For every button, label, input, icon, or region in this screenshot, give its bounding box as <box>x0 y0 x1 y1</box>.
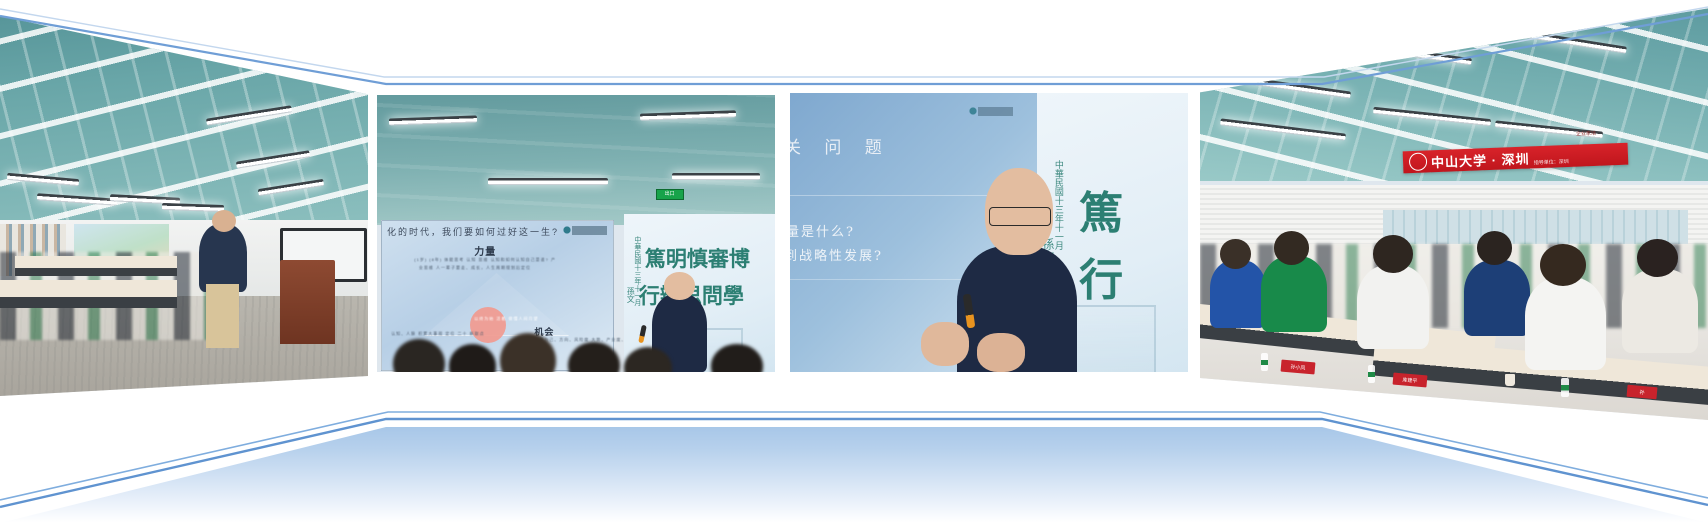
exit-sign-label: 出口 <box>657 190 683 199</box>
attendee-head <box>1373 235 1414 273</box>
glasses-icon <box>989 207 1051 226</box>
slide-question-1: 量是什么? <box>790 221 855 240</box>
slide-subtext-2: 业思维 人一辈子要走、成长，人生周期规划后定位 <box>419 265 531 271</box>
carousel-slide-lecture-slide-room[interactable]: 出口 化的时代，我们要如何过好这一生? 力量 (1岁) (8年) 体能思考 认知… <box>377 95 775 372</box>
slide-image-classroom-wide-left <box>0 0 368 400</box>
slide-heading: 关 问 题 <box>790 133 891 158</box>
calligraphy-signature: 孫文 <box>625 287 636 303</box>
slide-image-speaker-portrait: 关 问 题 量是什么? 到战略性发展? 篤 行 中華民國十三年十一月 孫文 <box>790 93 1188 372</box>
attendee-torso <box>1357 265 1428 349</box>
desk-row <box>15 256 177 276</box>
campus-gate-graphic <box>1064 305 1156 372</box>
attendee-torso <box>1464 260 1530 336</box>
university-seal-icon <box>1409 152 1428 171</box>
speaker-hand <box>977 333 1025 372</box>
speaker-hand <box>921 322 969 367</box>
name-card: 库建平 <box>1393 372 1428 387</box>
diagram-center-circle <box>470 307 506 343</box>
diagram-circle-label: 以终为始 活着 做懂人间月望 <box>474 316 538 322</box>
banner-top-note: 企业家培 <box>1576 130 1596 138</box>
podium <box>280 260 335 344</box>
brand-logo-icon <box>563 226 607 235</box>
slide-node-top: 力量 <box>474 243 496 258</box>
attendee-torso <box>1525 277 1606 369</box>
diagram-note-left: 认知、人脉 积累大事观 定位 二十 新取点 <box>391 331 484 337</box>
calligraphy-side-text: 中華民國十三年十一月 <box>1052 160 1065 250</box>
attendee-torso <box>1210 260 1266 327</box>
perspective-carousel-stage: 出口 化的时代，我们要如何过好这一生? 力量 (1岁) (8年) 体能思考 认知… <box>0 0 1708 523</box>
calligraphy-line-2: 行 <box>1079 244 1123 308</box>
ceiling-light <box>488 178 608 185</box>
carousel-slide-speaker-portrait[interactable]: 关 问 题 量是什么? 到战略性发展? 篤 行 中華民國十三年十一月 孫文 <box>790 93 1188 372</box>
coffee-cup <box>1505 374 1515 386</box>
slide-subtext-1: (1岁) (8年) 体能思考 认知 思维 认知和如何认知自己是谁? 产 <box>414 257 556 263</box>
banner-title: 中山大学 · 深圳 <box>1431 148 1530 171</box>
desk-row <box>0 280 177 308</box>
instructor-head <box>212 210 236 232</box>
attendee-head <box>1274 231 1310 265</box>
carousel-slide-audience-right[interactable]: 中山大学 · 深圳 指导单位：深圳 企业家培 孙小凤 库建平 孙 <box>1200 0 1708 420</box>
instructor-legs <box>206 284 239 348</box>
calligraphy-line-1: 篤明慎審博 <box>645 243 750 273</box>
attendee-head <box>1220 239 1250 268</box>
instructor-torso <box>199 224 247 292</box>
attendee-head <box>1540 244 1586 286</box>
attendee-torso <box>1622 269 1698 353</box>
slide-image-lecture-slide-room: 出口 化的时代，我们要如何过好这一生? 力量 (1岁) (8年) 体能思考 认知… <box>377 95 775 372</box>
slide-question-2: 到战略性发展? <box>790 245 883 264</box>
attendee-torso <box>1261 256 1327 332</box>
slide-image-audience-right: 中山大学 · 深圳 指导单位：深圳 企业家培 孙小凤 库建平 孙 <box>1200 0 1708 420</box>
brand-logo-icon <box>969 107 1013 116</box>
attendee-head <box>1477 231 1513 265</box>
attendee-head <box>1637 239 1678 277</box>
water-bottle <box>1561 378 1569 397</box>
water-bottle <box>1261 353 1268 371</box>
ceiling-light <box>672 173 760 180</box>
exit-sign: 出口 <box>656 189 684 200</box>
slide-heading: 化的时代，我们要如何过好这一生? <box>387 225 559 238</box>
carousel-slide-classroom-wide-left[interactable] <box>0 0 368 400</box>
floor-gradient <box>0 427 1708 523</box>
water-bottle <box>1368 365 1375 383</box>
presenter-head <box>664 272 696 300</box>
perspective-floor-panel <box>0 400 1708 523</box>
calligraphy-line-1: 篤 <box>1079 177 1123 241</box>
banner-subtitle: 指导单位：深圳 <box>1534 158 1569 168</box>
